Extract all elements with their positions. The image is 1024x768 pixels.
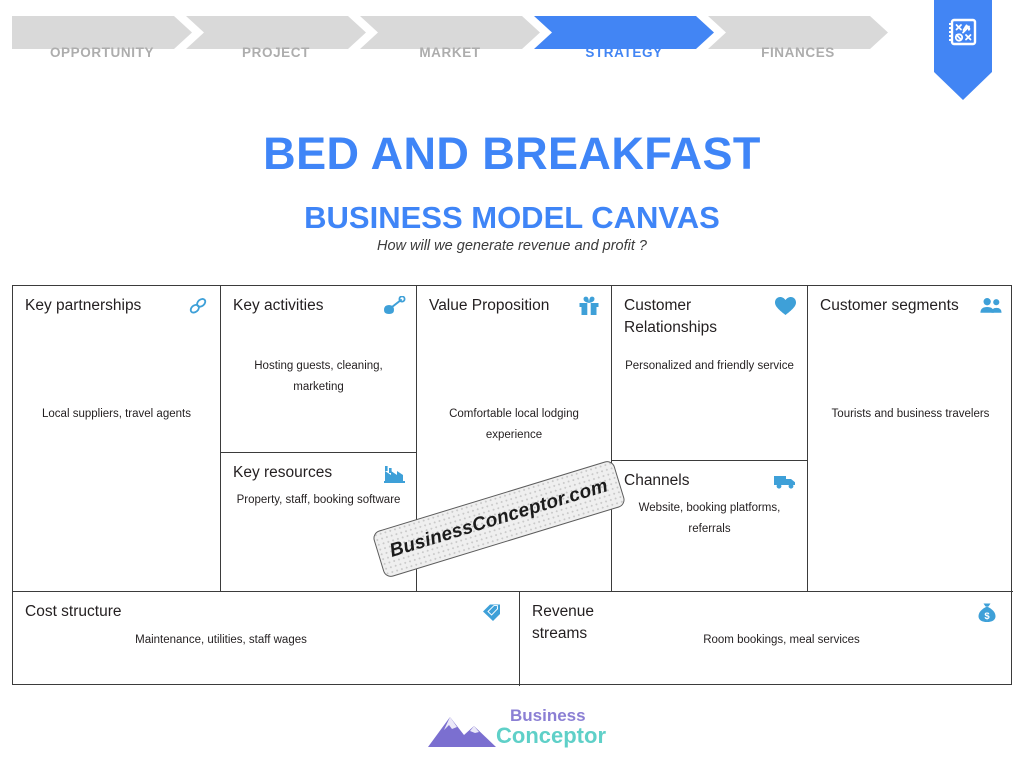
cell-body-key-resources: Property, staff, booking software [229, 490, 408, 511]
cell-title-channels: Channels [624, 470, 690, 492]
page-tagline: How will we generate revenue and profit … [0, 238, 1024, 254]
step-label-project: PROJECT [186, 45, 366, 60]
canvas-cell-customer-relationships[interactable]: Customer Relationships Personalized and … [612, 286, 808, 461]
step-label-opportunity: OPPORTUNITY [12, 45, 192, 60]
step-label-finances: FINANCES [708, 45, 888, 60]
price-tag-icon [481, 601, 505, 623]
cell-body-key-partnerships: Local suppliers, travel agents [21, 404, 212, 425]
cell-title-cost-structure: Cost structure [25, 601, 121, 623]
cell-body-customer-relationships: Personalized and friendly service [620, 356, 799, 377]
cell-title-key-activities: Key activities [233, 295, 323, 317]
canvas-cell-key-partnerships[interactable]: Key partnerships Local suppliers, travel… [13, 286, 221, 592]
heart-icon [773, 295, 797, 317]
cell-title-revenue-streams: Revenue streams [532, 601, 622, 645]
money-bag-icon: $ [975, 601, 999, 623]
logo-text-conceptor: Conceptor [496, 725, 606, 747]
cell-body-value-proposition: Comfortable local lodging experience [425, 404, 603, 446]
cell-body-channels: Website, booking platforms, referrals [620, 498, 799, 540]
business-model-canvas: Key partnerships Local suppliers, travel… [12, 285, 1012, 685]
canvas-cell-customer-segments[interactable]: Customer segments Tourists and business … [808, 286, 1013, 592]
cell-body-revenue-streams: Room bookings, meal services [630, 630, 933, 651]
chain-link-icon [186, 295, 210, 317]
canvas-cell-cost-structure[interactable]: Cost structure Maintenance, utilities, s… [13, 592, 520, 686]
cell-title-customer-segments: Customer segments [820, 295, 959, 317]
canvas-cell-key-activities[interactable]: Key activities Hosting guests, cleaning,… [221, 286, 417, 453]
logo-text-business: Business [510, 707, 606, 724]
cell-title-customer-relationships: Customer Relationships [624, 295, 764, 339]
strategy-playbook-icon [947, 16, 979, 48]
footer-logo: Business Conceptor [424, 707, 614, 753]
step-label-market: MARKET [360, 45, 540, 60]
cell-body-customer-segments: Tourists and business travelers [816, 404, 1005, 425]
step-label-strategy: STRATEGY [534, 45, 714, 60]
svg-text:$: $ [984, 611, 990, 622]
cell-title-value-proposition: Value Proposition [429, 295, 549, 317]
cell-title-key-partnerships: Key partnerships [25, 295, 141, 317]
cell-body-cost-structure: Maintenance, utilities, staff wages [43, 630, 399, 651]
shovel-icon [382, 295, 406, 317]
step-navigation: OPPORTUNITY PROJECT MARKET STRATEGY FINA… [0, 0, 1024, 110]
cell-body-key-activities: Hosting guests, cleaning, marketing [229, 356, 408, 398]
people-icon [979, 295, 1003, 317]
canvas-cell-revenue-streams[interactable]: Revenue streams $ Room bookings, meal se… [520, 592, 1013, 686]
page-title: BED AND BREAKFAST [0, 128, 1024, 180]
cell-title-key-resources: Key resources [233, 462, 332, 484]
factory-icon [382, 462, 406, 484]
truck-icon [773, 470, 797, 492]
canvas-cell-channels[interactable]: Channels Website, booking platforms, ref… [612, 461, 808, 592]
gift-icon [577, 295, 601, 317]
page-subtitle: BUSINESS MODEL CANVAS [0, 200, 1024, 236]
